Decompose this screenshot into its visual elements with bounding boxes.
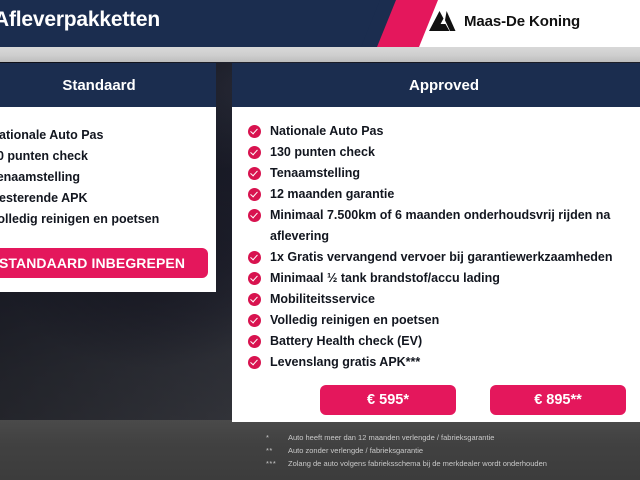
list-item: Volledig reinigen en poetsen bbox=[0, 209, 212, 230]
brand-name: Maas-De Koning bbox=[464, 13, 580, 30]
list-item: Minimaal 7.500km of 6 maanden onderhouds… bbox=[248, 205, 640, 247]
price-button-895[interactable]: € 895** bbox=[490, 385, 626, 415]
check-circle-icon bbox=[248, 188, 261, 201]
list-item: Mobiliteitsservice bbox=[248, 289, 640, 310]
list-item: Battery Health check (EV) bbox=[248, 331, 640, 352]
footnote-marker: *** bbox=[266, 457, 288, 470]
standard-card-heading: Standaard bbox=[62, 77, 135, 94]
footnote-2: ** Auto zonder verlengde / fabrieksgaran… bbox=[266, 444, 640, 457]
approved-card-heading: Approved bbox=[409, 77, 479, 94]
footnote-marker: ** bbox=[266, 444, 288, 457]
list-item: Tenaamstelling bbox=[248, 163, 640, 184]
list-item: 130 punten check bbox=[248, 142, 640, 163]
check-circle-icon bbox=[248, 356, 261, 369]
price-button-595[interactable]: € 595* bbox=[320, 385, 456, 415]
page-title: Afleverpakketten bbox=[0, 8, 160, 32]
footnote-1: * Auto heeft meer dan 12 maanden verleng… bbox=[266, 431, 640, 444]
footnote-text: Auto zonder verlengde / fabrieksgarantie bbox=[288, 444, 423, 457]
footnotes: * Auto heeft meer dan 12 maanden verleng… bbox=[266, 431, 640, 470]
check-circle-icon bbox=[248, 272, 261, 285]
background-light-strip bbox=[0, 46, 640, 62]
approved-card-body: Nationale Auto Pas 130 punten check Tena… bbox=[232, 107, 640, 422]
list-item: 12 maanden garantie bbox=[248, 184, 640, 205]
approved-feature-list: Nationale Auto Pas 130 punten check Tena… bbox=[248, 121, 640, 373]
check-circle-icon bbox=[248, 293, 261, 306]
list-item: Nationale Auto Pas bbox=[248, 121, 640, 142]
check-circle-icon bbox=[248, 314, 261, 327]
standard-included-button[interactable]: STANDAARD INBEGREPEN bbox=[0, 248, 208, 278]
standard-card-header: Standaard bbox=[0, 63, 216, 107]
footnote-marker: * bbox=[266, 431, 288, 444]
footnote-text: Zolang de auto volgens fabrieksschema bi… bbox=[288, 457, 547, 470]
top-bar: Afleverpakketten Maas-De Koning bbox=[0, 0, 640, 47]
approved-card-header: Approved bbox=[232, 63, 640, 107]
check-circle-icon bbox=[248, 251, 261, 264]
list-item: 40 punten check bbox=[0, 146, 212, 167]
footnote-text: Auto heeft meer dan 12 maanden verlengde… bbox=[288, 431, 494, 444]
maas-de-koning-m-logo-icon bbox=[427, 10, 457, 32]
check-circle-icon bbox=[248, 209, 261, 222]
check-circle-icon bbox=[248, 167, 261, 180]
check-circle-icon bbox=[248, 125, 261, 138]
list-item: Nationale Auto Pas bbox=[0, 125, 212, 146]
list-item: Minimaal ½ tank brandstof/accu lading bbox=[248, 268, 640, 289]
list-item: Volledig reinigen en poetsen bbox=[248, 310, 640, 331]
check-circle-icon bbox=[248, 146, 261, 159]
standard-feature-list: Nationale Auto Pas 40 punten check Tenaa… bbox=[0, 125, 212, 230]
slide-root: Afleverpakketten Maas-De Koning Standaar… bbox=[0, 0, 640, 480]
check-circle-icon bbox=[248, 335, 261, 348]
list-item: Levenslang gratis APK*** bbox=[248, 352, 640, 373]
list-item: Tenaamstelling bbox=[0, 167, 212, 188]
list-item: 1x Gratis vervangend vervoer bij garanti… bbox=[248, 247, 640, 268]
price-button-row: € 595* € 895** bbox=[320, 385, 626, 415]
footnote-3: *** Zolang de auto volgens fabrieksschem… bbox=[266, 457, 640, 470]
list-item: Resterende APK bbox=[0, 188, 212, 209]
brand-logo: Maas-De Koning bbox=[427, 10, 580, 32]
